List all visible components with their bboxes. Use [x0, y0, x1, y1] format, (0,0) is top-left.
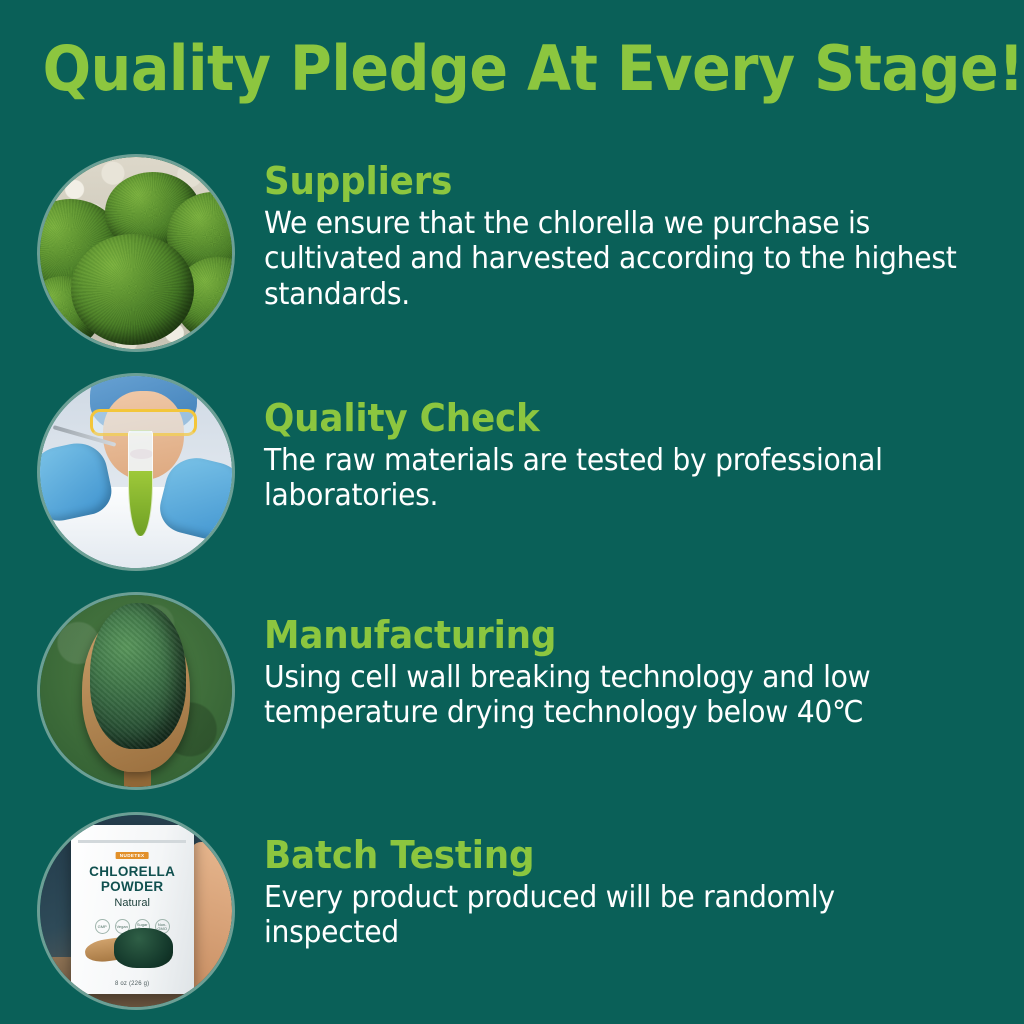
stage-copy-batch-testing: Batch Testing Every product produced wil…: [264, 836, 1004, 951]
chlorella-powder-spoon-photo: [40, 595, 232, 787]
brand-badge: NUDETEX: [116, 852, 149, 860]
stage-row-manufacturing: Manufacturing Using cell wall breaking t…: [0, 590, 1024, 800]
pouch-product-image: [81, 926, 184, 972]
stage-body: The raw materials are tested by professi…: [264, 443, 960, 514]
product-pouch: NUDETEX CHLORELLA POWDER Natural GMP Veg…: [71, 825, 194, 994]
product-title-line-2: POWDER: [71, 880, 194, 895]
chlorella-balls-photo: [40, 157, 232, 349]
stage-copy-suppliers: Suppliers We ensure that the chlorella w…: [264, 162, 1004, 312]
stage-copy-quality-check: Quality Check The raw materials are test…: [264, 399, 1004, 514]
lab-technician-photo: [40, 376, 232, 568]
stage-heading: Manufacturing: [264, 616, 960, 654]
stage-body: We ensure that the chlorella we purchase…: [264, 206, 960, 312]
stage-copy-manufacturing: Manufacturing Using cell wall breaking t…: [264, 616, 1004, 731]
stage-row-quality-check: Quality Check The raw materials are test…: [0, 371, 1024, 581]
quality-pledge-infographic: Quality Pledge At Every Stage! Suppliers…: [0, 0, 1024, 1024]
page-title-text: Quality Pledge At Every Stage!: [43, 36, 1024, 101]
powder-heap: [90, 603, 186, 749]
chlorella-ball-main: [71, 234, 194, 345]
page-title: Quality Pledge At Every Stage!: [0, 36, 1024, 101]
product-subtitle: Natural: [71, 897, 194, 909]
product-title-line-1: CHLORELLA: [71, 865, 194, 880]
stage-body: Every product produced will be randomly …: [264, 880, 960, 951]
stage-heading: Suppliers: [264, 162, 960, 200]
product-title: CHLORELLA POWDER: [71, 865, 194, 894]
pouch-powder-mound: [114, 928, 174, 968]
stage-body: Using cell wall breaking technology and …: [264, 660, 960, 731]
stage-row-batch-testing: NUDETEX CHLORELLA POWDER Natural GMP Veg…: [0, 810, 1024, 1020]
stage-heading: Quality Check: [264, 399, 960, 437]
stage-heading: Batch Testing: [264, 836, 960, 874]
pouch-zipper: [78, 840, 186, 843]
product-package-photo: NUDETEX CHLORELLA POWDER Natural GMP Veg…: [40, 815, 232, 1007]
stage-row-suppliers: Suppliers We ensure that the chlorella w…: [0, 152, 1024, 362]
net-weight: 8 oz (226 g): [71, 981, 194, 987]
